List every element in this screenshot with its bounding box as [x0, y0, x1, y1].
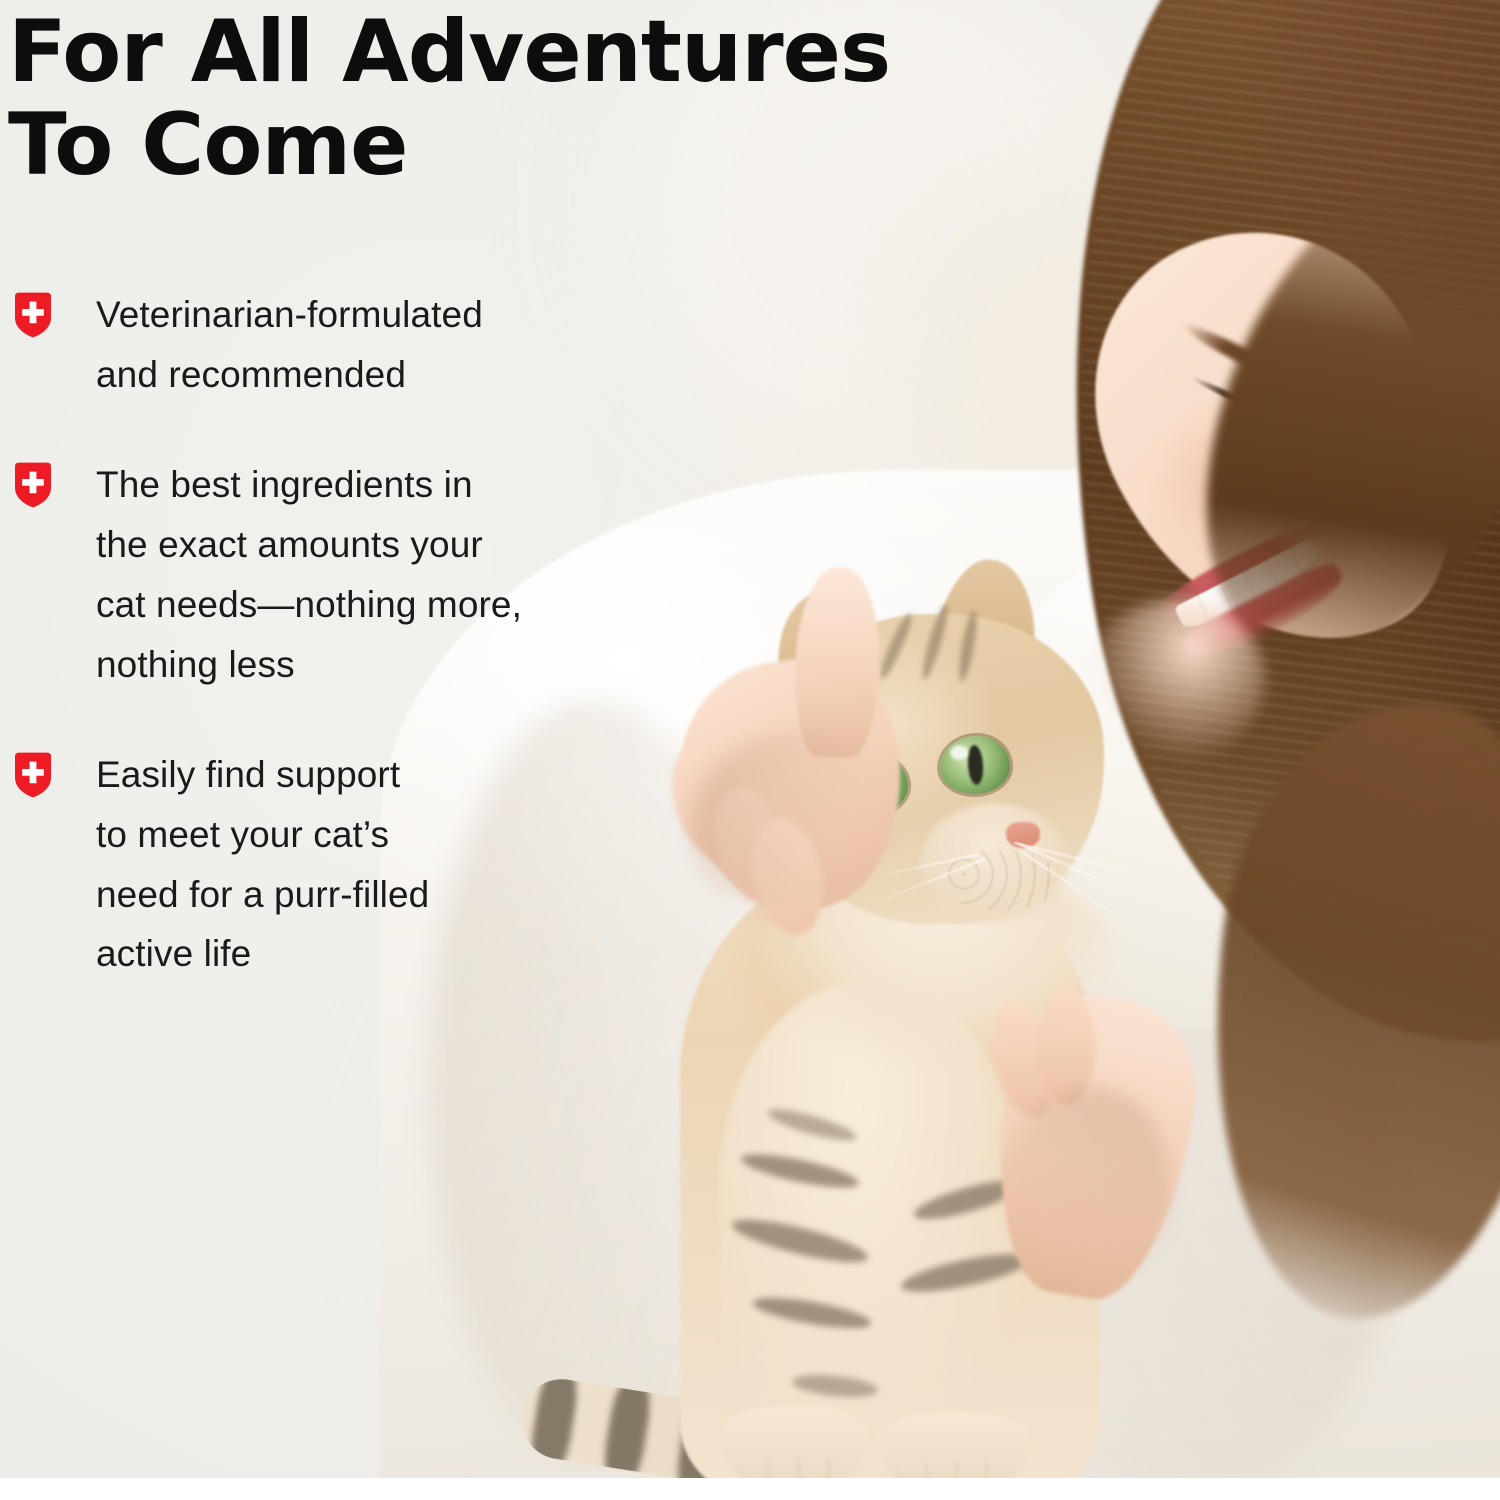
cat-pupil: [967, 745, 985, 785]
bottom-white-strip: [0, 1478, 1500, 1500]
page-title: For All Adventures To Come: [8, 6, 988, 192]
benefit-list: Veterinarian-formulated and recommended …: [8, 285, 648, 984]
shield-plus-icon: [12, 751, 54, 799]
cat-front-paw: [878, 1412, 1030, 1478]
marketing-image-canvas: For All Adventures To Come Veterinarian-…: [0, 0, 1500, 1500]
shield-plus-icon: [12, 461, 54, 509]
list-item: The best ingredients in the exact amount…: [8, 455, 648, 695]
list-item-label: The best ingredients in the exact amount…: [96, 455, 522, 695]
cat-front-paw: [720, 1406, 870, 1478]
list-item: Veterinarian-formulated and recommended: [8, 285, 648, 405]
thumb: [792, 566, 883, 759]
shield-plus-icon: [12, 291, 54, 339]
list-item-label: Veterinarian-formulated and recommended: [96, 285, 483, 405]
woman-hand-petting-head: [637, 561, 983, 949]
list-item: Easily find support to meet your cat’s n…: [8, 745, 648, 985]
list-item-label: Easily find support to meet your cat’s n…: [96, 745, 429, 985]
